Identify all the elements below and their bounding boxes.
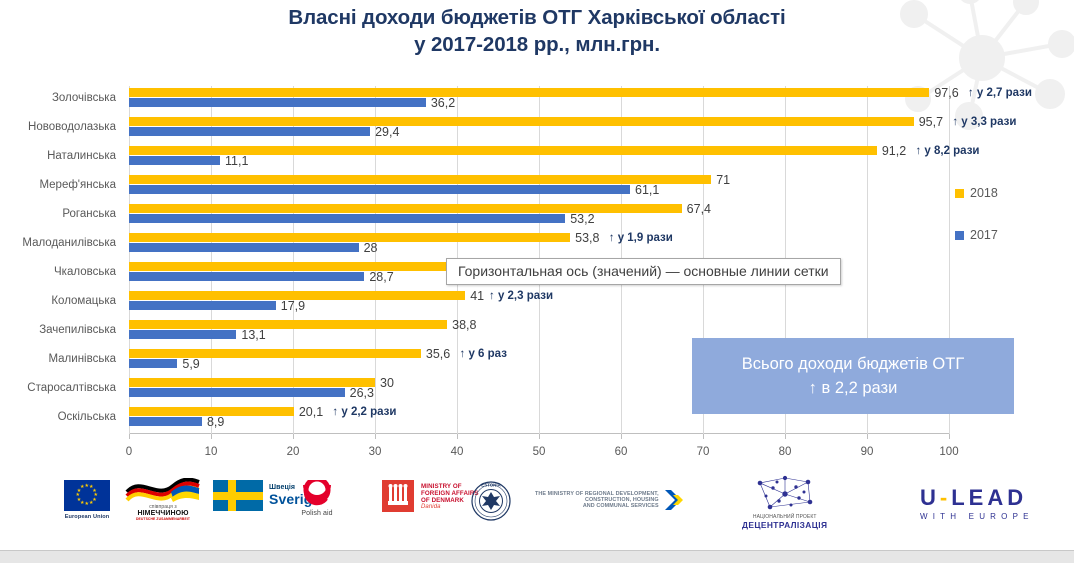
estonia-seal-icon: ESTONIA <box>470 480 512 522</box>
category-label: Малоданилівська <box>22 237 116 249</box>
axis-tick <box>867 434 868 439</box>
german-ukraine-ribbon-icon <box>125 478 201 502</box>
bar-2018[interactable] <box>129 349 421 358</box>
value-label-2018: 71 <box>716 173 730 187</box>
bar-2017[interactable] <box>129 272 364 281</box>
eu-star-icon: ★ <box>85 502 89 507</box>
value-label-2017: 17,9 <box>281 299 305 313</box>
bar-2018[interactable] <box>129 117 914 126</box>
callout-line-2: ↑ в 2,2 рази <box>809 376 898 400</box>
logo-caption: Polish aid <box>301 510 332 517</box>
axis-tick <box>785 434 786 439</box>
logo-denmark-mfa: MINISTRY OF FOREIGN AFFAIRS OF DENMARK D… <box>382 480 479 512</box>
logo-polish-aid: Polish aid <box>300 480 334 517</box>
u-lead-tagline: WITH EUROPE <box>920 512 1034 521</box>
axis-tick-label: 50 <box>533 446 546 458</box>
category-label: Нововодолазька <box>28 121 116 133</box>
value-label-2017: 53,2 <box>570 212 594 226</box>
category-axis: ЗолочівськаНововодолазькаНаталинськаМере… <box>0 86 122 434</box>
category-label: Чкаловська <box>54 266 116 278</box>
axis-tick <box>949 434 950 439</box>
callout-line-1: Всього доходи бюджетів ОТГ <box>742 352 965 376</box>
donor-logos-footer: ★★★★★★★★★★★★ European Union співпраця з … <box>0 472 1074 550</box>
axis-tick <box>703 434 704 439</box>
axis-tick-label: 20 <box>287 446 300 458</box>
logo-decentralization: НАЦІОНАЛЬНИЙ ПРОЕКТ ДЕЦЕНТРАЛІЗАЦІЯ <box>742 474 827 530</box>
logo-estonia: ESTONIA <box>470 480 512 522</box>
u-lead-lead: LEAD <box>951 485 1027 510</box>
logo-caption-line3: DEUTSCHE ZUSAMMENARBEIT <box>136 517 190 521</box>
category-label: Зачепилівська <box>39 324 116 336</box>
legend-item[interactable]: 2018 <box>955 186 998 200</box>
title-line-1: Власні доходи бюджетів ОТГ Харківської о… <box>0 4 1074 31</box>
value-label-2017: 28,7 <box>369 270 393 284</box>
estonia-caption: ESTONIA <box>481 483 501 488</box>
legend-label: 2017 <box>970 228 998 242</box>
bar-2017[interactable] <box>129 156 220 165</box>
bar-2017[interactable] <box>129 417 202 426</box>
legend-item[interactable]: 2017 <box>955 228 998 242</box>
eu-star-icon: ★ <box>80 485 84 490</box>
category-label: Золочівська <box>52 92 116 104</box>
value-label-2017: 5,9 <box>182 357 199 371</box>
axis-tick-label: 100 <box>939 446 958 458</box>
value-label-2017: 11,1 <box>225 154 248 168</box>
value-label-2018: 20,1 <box>299 405 323 419</box>
category-label: Малинівська <box>48 353 116 365</box>
axis-tick <box>375 434 376 439</box>
value-label-2018: 53,8 <box>575 231 599 245</box>
value-label-2018: 97,6 <box>934 86 958 100</box>
axis-tick <box>457 434 458 439</box>
chevron-arrows-icon <box>664 487 688 513</box>
eu-star-icon: ★ <box>89 501 93 506</box>
bar-2017[interactable] <box>129 98 426 107</box>
value-label-2017: 26,3 <box>350 386 374 400</box>
bar-2017[interactable] <box>129 301 276 310</box>
value-label-2018: 38,8 <box>452 318 476 332</box>
value-label-2018: 67,4 <box>687 202 711 216</box>
eu-flag-icon: ★★★★★★★★★★★★ <box>64 480 110 511</box>
axis-tick-label: 60 <box>615 446 628 458</box>
value-label-2018: 41 <box>470 289 484 303</box>
value-label-2017: 36,2 <box>431 96 455 110</box>
u-lead-u: U <box>920 485 940 510</box>
axis-tick <box>621 434 622 439</box>
axis-tick <box>539 434 540 439</box>
bottom-band <box>0 550 1074 563</box>
growth-annotation: ↑ у 8,2 рази <box>915 145 979 157</box>
axis-tick-label: 40 <box>451 446 464 458</box>
logo-caption-line2: НІМЕЧЧИНОЮ <box>137 510 188 517</box>
bar-2018[interactable] <box>129 262 496 271</box>
bar-2017[interactable] <box>129 243 359 252</box>
summary-callout: Всього доходи бюджетів ОТГ ↑ в 2,2 рази <box>692 338 1014 414</box>
axis-tick-label: 70 <box>697 446 710 458</box>
bar-2017[interactable] <box>129 127 370 136</box>
axis-gridline-tooltip: Горизонтальная ось (значений) — основные… <box>446 258 841 285</box>
legend-swatch <box>955 189 964 198</box>
category-label: Коломацька <box>51 295 116 307</box>
eu-star-icon: ★ <box>77 498 81 503</box>
axis-tick-label: 0 <box>126 446 132 458</box>
value-label-2017: 13,1 <box>241 328 265 342</box>
growth-annotation: ↑ у 2,2 рази <box>332 406 396 418</box>
value-label-2018: 95,7 <box>919 115 943 129</box>
bar-2018[interactable] <box>129 378 375 387</box>
polish-aid-icon <box>300 480 334 508</box>
axis-tick-label: 90 <box>861 446 874 458</box>
legend-label: 2018 <box>970 186 998 200</box>
bar-2017[interactable] <box>129 359 177 368</box>
category-label: Наталинська <box>47 150 116 162</box>
bar-2018[interactable] <box>129 233 570 242</box>
u-lead-dash: - <box>940 485 951 510</box>
title-line-2: у 2017-2018 рр., млн.грн. <box>0 31 1074 58</box>
logo-european-union: ★★★★★★★★★★★★ European Union <box>64 480 110 520</box>
logo-caption-line2: ДЕЦЕНТРАЛІЗАЦІЯ <box>742 520 827 530</box>
axis-tick-label: 30 <box>369 446 382 458</box>
axis-tick <box>129 434 130 439</box>
bar-2018[interactable] <box>129 88 929 97</box>
axis-tick <box>211 434 212 439</box>
bar-2017[interactable] <box>129 185 630 194</box>
category-label: Роганська <box>62 208 116 220</box>
axis-tick-label: 80 <box>779 446 792 458</box>
sweden-flag-icon <box>213 480 263 511</box>
value-label-2018: 91,2 <box>882 144 906 158</box>
value-label-2017: 28 <box>364 241 378 255</box>
growth-annotation: ↑ у 2,7 рази <box>968 87 1032 99</box>
growth-annotation: ↑ у 1,9 рази <box>609 232 673 244</box>
u-lead-wordmark: U-LEAD <box>920 486 1027 510</box>
logo-ministry-regional-development: THE MINISTRY OF REGIONAL DEVELOPMENT, CO… <box>535 487 688 513</box>
axis-tick-label: 10 <box>205 446 218 458</box>
logo-u-lead: U-LEAD WITH EUROPE <box>920 486 1034 521</box>
growth-annotation: ↑ у 6 раз <box>460 348 507 360</box>
bar-2017[interactable] <box>129 330 236 339</box>
category-label: Оскільська <box>58 411 116 423</box>
bar-2017[interactable] <box>129 214 565 223</box>
decentralization-network-icon <box>746 474 824 514</box>
bar-2018[interactable] <box>129 320 447 329</box>
value-label-2017: 61,1 <box>635 183 659 197</box>
bar-2018[interactable] <box>129 175 711 184</box>
value-label-2017: 8,9 <box>207 415 224 429</box>
value-label-2018: 30 <box>380 376 394 390</box>
growth-annotation: ↑ у 2,3 рази <box>489 290 553 302</box>
growth-annotation: ↑ у 3,3 рази <box>952 116 1016 128</box>
logo-caption: European Union <box>65 514 110 520</box>
bar-2018[interactable] <box>129 204 682 213</box>
eu-star-icon: ★ <box>76 493 80 498</box>
legend-swatch <box>955 231 964 240</box>
value-label-2018: 35,6 <box>426 347 450 361</box>
chart-legend: 20182017 <box>955 186 998 270</box>
category-label: Старосалтівська <box>27 382 116 394</box>
category-label: Мереф'янська <box>39 179 116 191</box>
value-label-2017: 29,4 <box>375 125 399 139</box>
axis-tick <box>293 434 294 439</box>
logo-caption-line3: AND COMMUNAL SERVICES <box>535 503 659 509</box>
logo-german-cooperation: співпраця з НІМЕЧЧИНОЮ DEUTSCHE ZUSAMMEN… <box>124 478 202 521</box>
bar-2017[interactable] <box>129 388 345 397</box>
page-title: Власні доходи бюджетів ОТГ Харківської о… <box>0 4 1074 58</box>
denmark-crest-icon <box>382 480 414 512</box>
